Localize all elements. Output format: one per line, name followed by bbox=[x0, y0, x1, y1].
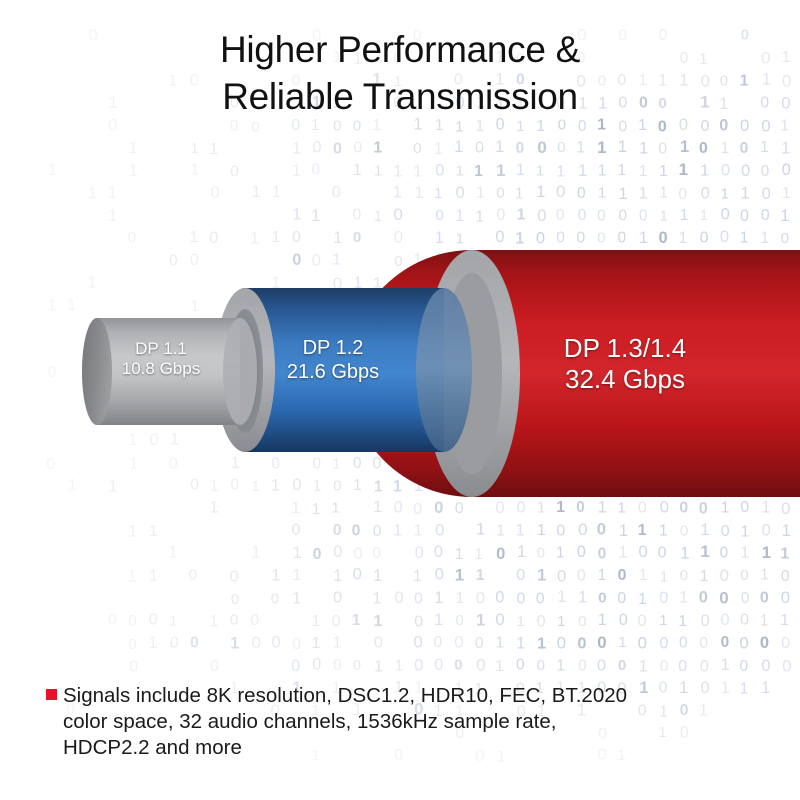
footnote-text: Signals include 8K resolution, DSC1.2, H… bbox=[63, 683, 627, 761]
bullet-square-icon bbox=[46, 689, 57, 700]
pipe-dp12-right-face bbox=[416, 288, 472, 452]
footnote-line-2: color space, 32 audio channels, 1536kHz … bbox=[63, 709, 627, 735]
footnote-bullet-item: Signals include 8K resolution, DSC1.2, H… bbox=[46, 683, 766, 761]
pipe-label-dp12-bandwidth: 21.6 Gbps bbox=[258, 361, 408, 385]
pipe-label-dp13: DP 1.3/1.4 32.4 Gbps bbox=[510, 333, 740, 394]
pipe-dp11-right-face bbox=[223, 318, 257, 425]
page-title-line-1: Higher Performance & bbox=[220, 29, 580, 70]
page-title: Higher Performance & Reliable Transmissi… bbox=[0, 26, 800, 120]
pipe-label-dp13-name: DP 1.3/1.4 bbox=[510, 333, 740, 364]
pipe-label-dp12: DP 1.2 21.6 Gbps bbox=[258, 337, 408, 384]
page-title-line-2: Reliable Transmission bbox=[0, 73, 800, 120]
pipe-label-dp11-bandwidth: 10.8 Gbps bbox=[96, 359, 226, 379]
footnote-line-1: Signals include 8K resolution, DSC1.2, H… bbox=[63, 683, 627, 709]
pipe-label-dp11: DP 1.1 10.8 Gbps bbox=[96, 339, 226, 379]
pipe-label-dp11-name: DP 1.1 bbox=[96, 339, 226, 359]
footnote-line-3: HDCP2.2 and more bbox=[63, 735, 627, 761]
pipe-label-dp12-name: DP 1.2 bbox=[258, 337, 408, 361]
pipe-label-dp13-bandwidth: 32.4 Gbps bbox=[510, 364, 740, 395]
bandwidth-pipe-diagram bbox=[0, 0, 800, 800]
